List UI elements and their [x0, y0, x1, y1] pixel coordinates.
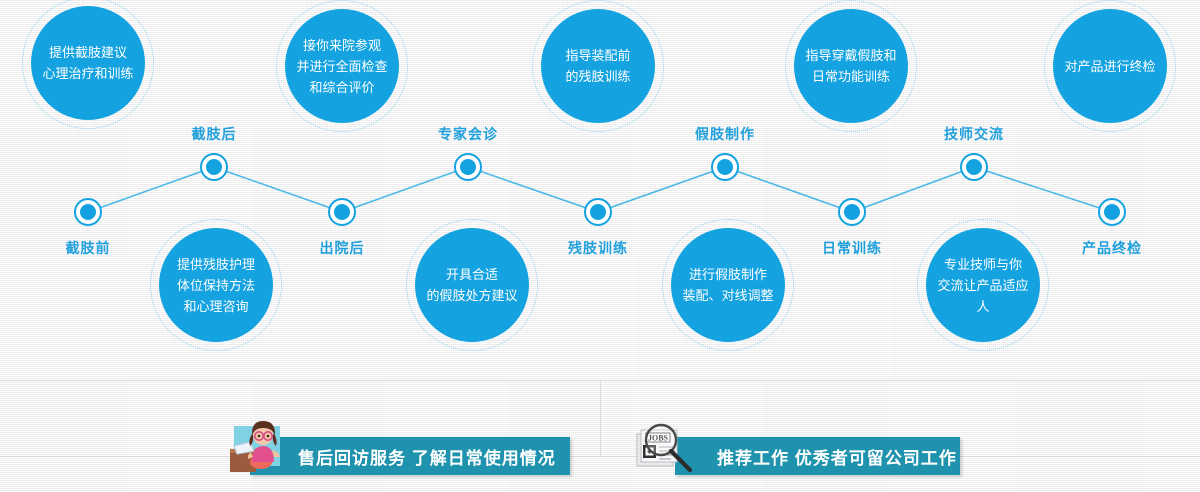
milestone-node-daily-training[interactable]	[838, 198, 866, 226]
detail-bubble-text-technician-talk: 专业技师与你交流让产品适应人	[926, 254, 1040, 317]
bubble-line: 接你来院参观	[296, 35, 387, 56]
detail-bubble-text-stump-training: 指导装配前的残肢训练	[555, 45, 640, 87]
info-banner-after-sales[interactable]: 售后回访服务 了解日常使用情况	[250, 437, 570, 475]
milestone-dot-icon	[460, 159, 476, 175]
detail-bubble-text-prosthesis-make: 进行假肢制作装配、对线调整	[672, 264, 783, 306]
banner-stem-vertical	[600, 380, 601, 456]
milestone-node-final-inspection[interactable]	[1098, 198, 1126, 226]
detail-bubble-text-expert-consult: 开具合适的假肢处方建议	[416, 264, 527, 306]
flow-diagram-stage: 提供截肢建议心理治疗和训练截肢前提供残肢护理体位保持方法和心理咨询截肢后接你来院…	[0, 0, 1200, 492]
milestone-node-post-amputation[interactable]	[200, 153, 228, 181]
detail-bubble-final-inspection[interactable]: 对产品进行终检	[1053, 9, 1167, 123]
info-banner-text-after-sales: 售后回访服务 了解日常使用情况	[298, 444, 556, 469]
detail-bubble-text-final-inspection: 对产品进行终检	[1054, 56, 1165, 77]
milestone-dot-icon	[590, 204, 606, 220]
bubble-line: 开具合适	[426, 264, 517, 285]
milestone-dot-icon	[334, 204, 350, 220]
detail-bubble-expert-consult[interactable]: 开具合适的假肢处方建议	[415, 228, 529, 342]
bubble-line: 对产品进行终检	[1064, 56, 1155, 77]
detail-bubble-stump-training[interactable]: 指导装配前的残肢训练	[541, 9, 655, 123]
milestone-label-final-inspection: 产品终检	[1052, 238, 1172, 258]
milestone-dot-icon	[1104, 204, 1120, 220]
detail-bubble-prosthesis-make[interactable]: 进行假肢制作装配、对线调整	[671, 228, 785, 342]
bubble-line: 专业技师与你	[936, 254, 1030, 275]
detail-bubble-text-daily-training: 指导穿戴假肢和日常功能训练	[795, 45, 906, 87]
detail-bubble-text-post-discharge: 接你来院参观并进行全面检查和综合评价	[286, 35, 397, 98]
milestone-label-prosthesis-make: 假肢制作	[665, 124, 785, 144]
bubble-line: 指导装配前	[565, 45, 630, 66]
bubble-line: 进行假肢制作	[682, 264, 773, 285]
bubble-line: 提供截肢建议	[42, 42, 133, 63]
bubble-line: 装配、对线调整	[682, 285, 773, 306]
milestone-node-post-discharge[interactable]	[328, 198, 356, 226]
detail-bubble-post-discharge[interactable]: 接你来院参观并进行全面检查和综合评价	[285, 9, 399, 123]
bubble-line: 的假肢处方建议	[426, 285, 517, 306]
milestone-node-stump-training[interactable]	[584, 198, 612, 226]
milestone-label-technician-talk: 技师交流	[914, 124, 1034, 144]
milestone-dot-icon	[717, 159, 733, 175]
detail-bubble-daily-training[interactable]: 指导穿戴假肢和日常功能训练	[794, 9, 908, 123]
bubble-line: 和心理咨询	[177, 296, 255, 317]
jobs-magnifier-icon: JOBS	[635, 420, 697, 474]
detail-bubble-text-pre-amputation: 提供截肢建议心理治疗和训练	[32, 42, 143, 84]
milestone-dot-icon	[206, 159, 222, 175]
milestone-node-expert-consult[interactable]	[454, 153, 482, 181]
milestone-label-daily-training: 日常训练	[792, 238, 912, 258]
detail-bubble-pre-amputation[interactable]: 提供截肢建议心理治疗和训练	[31, 6, 145, 120]
detail-bubble-technician-talk[interactable]: 专业技师与你交流让产品适应人	[926, 228, 1040, 342]
milestone-label-post-discharge: 出院后	[282, 238, 402, 258]
detail-bubble-post-amputation[interactable]: 提供残肢护理体位保持方法和心理咨询	[159, 228, 273, 342]
milestone-dot-icon	[966, 159, 982, 175]
bubble-line: 的残肢训练	[565, 66, 630, 87]
bubble-line: 体位保持方法	[177, 275, 255, 296]
milestone-label-post-amputation: 截肢后	[154, 124, 274, 144]
bubble-line: 并进行全面检查	[296, 56, 387, 77]
milestone-dot-icon	[844, 204, 860, 220]
milestone-node-prosthesis-make[interactable]	[711, 153, 739, 181]
info-banner-text-job-referral: 推荐工作 优秀者可留公司工作	[717, 444, 957, 469]
milestone-node-technician-talk[interactable]	[960, 153, 988, 181]
woman-at-desk-icon	[228, 418, 286, 474]
milestone-node-pre-amputation[interactable]	[74, 198, 102, 226]
info-banner-job-referral[interactable]: 推荐工作 优秀者可留公司工作	[675, 437, 960, 475]
milestone-dot-icon	[80, 204, 96, 220]
milestone-label-pre-amputation: 截肢前	[28, 238, 148, 258]
bubble-line: 交流让产品适应人	[936, 275, 1030, 317]
bubble-line: 指导穿戴假肢和	[805, 45, 896, 66]
bubble-line: 和综合评价	[296, 77, 387, 98]
bubble-line: 提供残肢护理	[177, 254, 255, 275]
bubble-line: 心理治疗和训练	[42, 63, 133, 84]
milestone-label-stump-training: 残肢训练	[538, 238, 658, 258]
detail-bubble-text-post-amputation: 提供残肢护理体位保持方法和心理咨询	[167, 254, 265, 317]
milestone-label-expert-consult: 专家会诊	[408, 124, 528, 144]
bubble-line: 日常功能训练	[805, 66, 896, 87]
